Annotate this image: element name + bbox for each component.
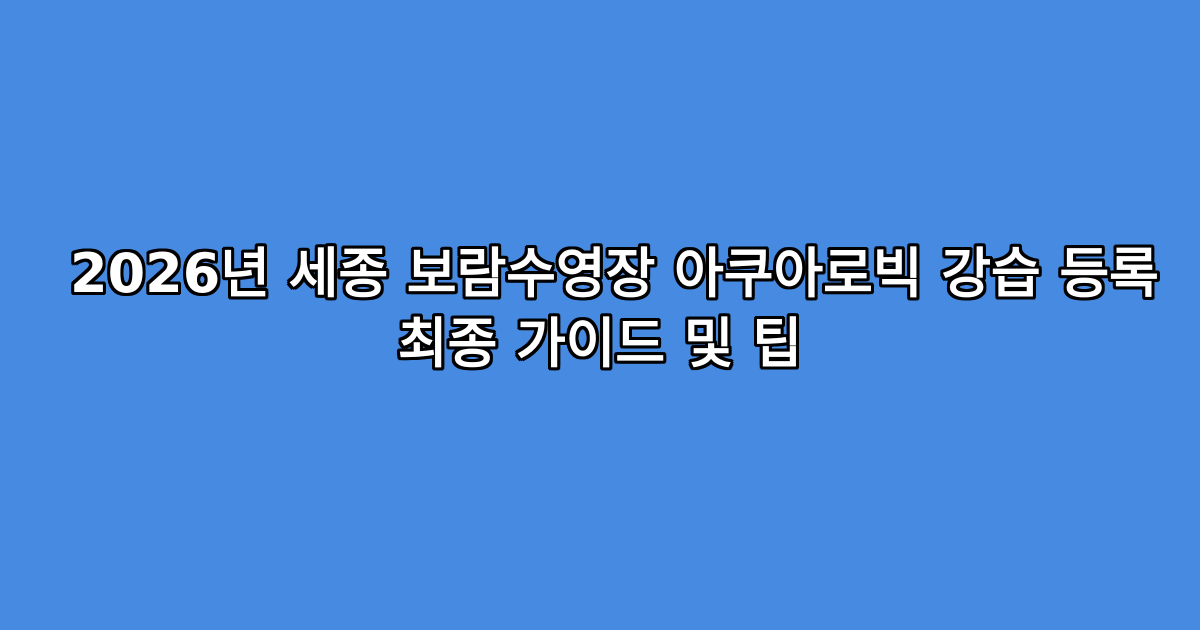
thumbnail-banner: 2026년 세종 보람수영장 아쿠아로빅 강습 등록 최종 가이드 및 팁 [0,0,1200,630]
banner-title-line-1: 2026년 세종 보람수영장 아쿠아로빅 강습 등록 [70,239,1130,309]
banner-title-line-2: 최종 가이드 및 팁 [70,309,1130,379]
banner-title: 2026년 세종 보람수영장 아쿠아로빅 강습 등록 최종 가이드 및 팁 [70,239,1130,379]
